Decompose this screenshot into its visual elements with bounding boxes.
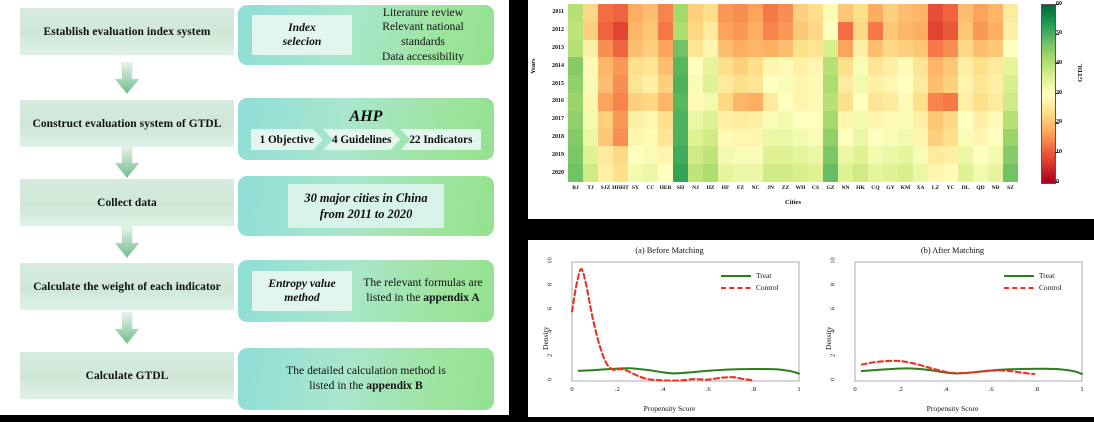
heatmap-cell	[658, 111, 673, 129]
heatmap-cell	[928, 146, 943, 164]
heatmap-cell	[568, 22, 583, 40]
heatmap-cell	[898, 4, 913, 22]
heatmap-cell	[883, 164, 898, 182]
heatmap-cell	[703, 164, 718, 182]
heatmap-cell	[838, 40, 853, 58]
heatmap-cell	[583, 146, 598, 164]
heatmap-cell	[883, 57, 898, 75]
density-legend-label: Treat	[756, 271, 771, 280]
heatmap-cell	[733, 57, 748, 75]
heatmap-cell	[733, 164, 748, 182]
heatmap-cell	[928, 111, 943, 129]
heatmap-cell	[853, 22, 868, 40]
heatmap-cell	[883, 146, 898, 164]
heatmap-cell	[778, 75, 793, 93]
heatmap-cell	[748, 22, 763, 40]
heatmap-year-tick: 2016	[536, 98, 564, 104]
detail-text: The detailed calculation method islisted…	[238, 364, 494, 393]
heatmap-cell	[838, 146, 853, 164]
heatmap-cell	[883, 129, 898, 147]
heatmap-cell	[688, 111, 703, 129]
down-arrow-icon	[114, 312, 140, 345]
heatmap-cell	[883, 93, 898, 111]
heatmap-cell	[808, 164, 823, 182]
heatmap-cell	[1003, 129, 1018, 147]
heatmap-cell	[913, 22, 928, 40]
heatmap-cell	[823, 22, 838, 40]
heatmap-cell	[973, 22, 988, 40]
heatmap-cell	[808, 75, 823, 93]
heatmap-cell	[1003, 40, 1018, 58]
heatmap-cell	[973, 4, 988, 22]
heatmap-cell	[718, 93, 733, 111]
heatmap-cell	[673, 164, 688, 182]
heatmap-cell	[823, 129, 838, 147]
heatmap-cell	[673, 57, 688, 75]
heatmap-cell	[958, 164, 973, 182]
colorbar-label: GTDL	[1077, 64, 1084, 82]
heatmap-cell	[943, 40, 958, 58]
heatmap-cell	[613, 93, 628, 111]
heatmap-cell	[763, 40, 778, 58]
heatmap-cell	[673, 75, 688, 93]
colorbar-tick-label: 60	[1056, 1, 1062, 7]
heatmap-cell	[673, 129, 688, 147]
heatmap-cell	[688, 75, 703, 93]
heatmap-cell	[718, 164, 733, 182]
heatmap-cell	[988, 146, 1003, 164]
heatmap-cell	[928, 93, 943, 111]
heatmap-cell	[763, 111, 778, 129]
heatmap-cell	[733, 40, 748, 58]
flow-detail-box: 30 major cities in Chinafrom 2011 to 202…	[238, 176, 494, 236]
detail-text: Literature reviewRelevant national stand…	[352, 6, 494, 64]
heatmap-cell	[613, 111, 628, 129]
flowchart-panel: Establish evaluation index systemConstru…	[0, 0, 509, 415]
heatmap-cell	[958, 40, 973, 58]
heatmap-cell	[733, 129, 748, 147]
heatmap-cell	[838, 164, 853, 182]
heatmap-cell	[658, 164, 673, 182]
heatmap-cell	[1003, 4, 1018, 22]
heatmap-cell	[763, 129, 778, 147]
heatmap-cell	[703, 146, 718, 164]
heatmap-cell	[898, 164, 913, 182]
heatmap-cell	[883, 22, 898, 40]
heatmap-cell	[793, 75, 808, 93]
heatmap-cell	[733, 93, 748, 111]
heatmap-cell	[1003, 146, 1018, 164]
heatmap-cell	[838, 75, 853, 93]
density-plot-after-matching: (b) After MatchingDensityPropensity Scor…	[811, 240, 1094, 417]
heatmap-year-tick: 2011	[536, 9, 564, 15]
heatmap-cell	[928, 75, 943, 93]
heatmap-cell	[718, 111, 733, 129]
heatmap-cell	[763, 57, 778, 75]
heatmap-cell	[748, 146, 763, 164]
heatmap-cell	[583, 4, 598, 22]
heatmap-cell	[928, 129, 943, 147]
heatmap-cell	[658, 4, 673, 22]
heatmap-cell	[778, 22, 793, 40]
heatmap-cell	[898, 40, 913, 58]
ahp-chevron-row: 1 Objective4 Guidelines22 Indicators	[238, 129, 494, 150]
heatmap-cell	[688, 4, 703, 22]
heatmap-cell	[1003, 75, 1018, 93]
colorbar-tick-label: 20	[1056, 119, 1062, 125]
heatmap-cell	[1003, 93, 1018, 111]
heatmap-cell	[868, 57, 883, 75]
heatmap-cell	[838, 57, 853, 75]
heatmap-year-tick: 2017	[536, 116, 564, 122]
heatmap-cell	[988, 57, 1003, 75]
heatmap-cell	[688, 93, 703, 111]
heatmap-cell	[838, 22, 853, 40]
heatmap-cell	[808, 129, 823, 147]
heatmap-cell	[868, 40, 883, 58]
heatmap-cell	[658, 75, 673, 93]
heatmap-year-tick: 2018	[536, 134, 564, 140]
ahp-chevron: 22 Indicators	[400, 129, 481, 150]
heatmap-cell	[718, 4, 733, 22]
heatmap-cell	[733, 22, 748, 40]
heatmap-cell	[748, 4, 763, 22]
heatmap-year-tick: 2019	[536, 152, 564, 158]
heatmap-cell	[568, 111, 583, 129]
heatmap-cell	[988, 40, 1003, 58]
heatmap-cell	[973, 57, 988, 75]
heatmap-cell	[643, 129, 658, 147]
heatmap-cell	[703, 93, 718, 111]
ahp-title: AHP	[238, 108, 494, 126]
flow-detail-box: The detailed calculation method islisted…	[238, 348, 494, 410]
heatmap-cell	[973, 146, 988, 164]
heatmap-cell	[853, 75, 868, 93]
heatmap-cell	[823, 146, 838, 164]
heatmap-cell	[688, 129, 703, 147]
heatmap-year-tick: 2013	[536, 45, 564, 51]
heatmap-cell	[628, 22, 643, 40]
heatmap-cell	[628, 111, 643, 129]
heatmap-cell	[988, 93, 1003, 111]
heatmap-cell	[853, 40, 868, 58]
heatmap-cell	[763, 4, 778, 22]
heatmap-cell	[733, 75, 748, 93]
heatmap-cell	[598, 57, 613, 75]
heatmap-cell	[583, 40, 598, 58]
heatmap-cell	[943, 75, 958, 93]
heatmap-cell	[568, 40, 583, 58]
heatmap-cell	[598, 75, 613, 93]
heatmap-cell	[763, 93, 778, 111]
detail-text: The relevant formulas arelisted in the a…	[352, 276, 494, 305]
heatmap-cell	[688, 164, 703, 182]
heatmap-cell	[958, 129, 973, 147]
flow-step-box: Calculate GTDL	[20, 352, 234, 399]
heatmap-cell	[808, 111, 823, 129]
heatmap-cell	[598, 93, 613, 111]
heatmap-cell	[793, 4, 808, 22]
heatmap-cell	[913, 57, 928, 75]
heatmap-cell	[943, 4, 958, 22]
heatmap-grid	[568, 4, 1018, 182]
heatmap-cell	[1003, 111, 1018, 129]
colorbar-tick-label: 10	[1056, 149, 1062, 155]
heatmap-cell	[928, 40, 943, 58]
heatmap-cell	[793, 57, 808, 75]
heatmap-cell	[973, 164, 988, 182]
heatmap-cell	[1003, 57, 1018, 75]
heatmap-cell	[808, 4, 823, 22]
heatmap-cell	[928, 164, 943, 182]
cities-scope-pill: 30 major cities in Chinafrom 2011 to 202…	[288, 184, 443, 228]
heatmap-cell	[868, 146, 883, 164]
heatmap-cell	[898, 129, 913, 147]
heatmap-cell	[628, 93, 643, 111]
heatmap-cell	[643, 75, 658, 93]
heatmap-cell	[913, 146, 928, 164]
heatmap-cell	[613, 164, 628, 182]
heatmap-cell	[778, 111, 793, 129]
heatmap-cell	[778, 129, 793, 147]
heatmap-cell	[598, 111, 613, 129]
heatmap-cell	[643, 4, 658, 22]
heatmap-cell	[568, 4, 583, 22]
heatmap-cell	[658, 57, 673, 75]
heatmap-cell	[988, 164, 1003, 182]
density-plot-before-matching: (a) Before MatchingDensityPropensity Sco…	[528, 240, 811, 417]
heatmap-cell	[703, 22, 718, 40]
heatmap-cell	[913, 111, 928, 129]
heatmap-cell	[568, 75, 583, 93]
heatmap-cell	[643, 22, 658, 40]
heatmap-cell	[703, 4, 718, 22]
heatmap-cell	[793, 129, 808, 147]
heatmap-cell	[928, 57, 943, 75]
heatmap-cell	[763, 146, 778, 164]
heatmap-cell	[973, 111, 988, 129]
heatmap-year-tick: 2015	[536, 81, 564, 87]
detail-method-pill: Indexselecion	[252, 15, 352, 54]
heatmap-cell	[583, 75, 598, 93]
heatmap-cell	[628, 40, 643, 58]
heatmap-cell	[673, 111, 688, 129]
heatmap-cell	[748, 93, 763, 111]
heatmap-cell	[868, 22, 883, 40]
heatmap-cell	[883, 111, 898, 129]
heatmap-cell	[568, 93, 583, 111]
heatmap-cell	[913, 164, 928, 182]
heatmap-cell	[793, 40, 808, 58]
heatmap-cell	[898, 57, 913, 75]
heatmap-cell	[583, 129, 598, 147]
ahp-chevron: 4 Guidelines	[323, 129, 400, 150]
heatmap-cell	[778, 93, 793, 111]
heatmap-cell	[943, 93, 958, 111]
heatmap-cell	[928, 22, 943, 40]
heatmap-cell	[628, 146, 643, 164]
heatmap-cell	[988, 22, 1003, 40]
heatmap-cell	[853, 146, 868, 164]
heatmap-cell	[943, 57, 958, 75]
heatmap-cell	[613, 40, 628, 58]
heatmap-cell	[658, 22, 673, 40]
flow-step-box: Establish evaluation index system	[20, 8, 234, 55]
heatmap-cell	[883, 40, 898, 58]
heatmap-cell	[598, 22, 613, 40]
heatmap-cell	[763, 164, 778, 182]
heatmap-cell	[613, 22, 628, 40]
down-arrow-icon	[114, 62, 140, 95]
heatmap-cell	[958, 22, 973, 40]
density-legend-label: Control	[756, 283, 779, 292]
heatmap-cell	[703, 57, 718, 75]
flow-detail-box: IndexselecionLiterature reviewRelevant n…	[238, 5, 494, 65]
heatmap-cell	[808, 40, 823, 58]
heatmap-cell	[778, 146, 793, 164]
heatmap-cell	[568, 164, 583, 182]
heatmap-cell	[853, 4, 868, 22]
heatmap-cell	[598, 4, 613, 22]
heatmap-cell	[643, 146, 658, 164]
heatmap-cell	[823, 40, 838, 58]
heatmap-cell	[868, 75, 883, 93]
heatmap-cell	[703, 129, 718, 147]
heatmap-cell	[868, 4, 883, 22]
heatmap-cell	[808, 22, 823, 40]
flow-step-box: Collect data	[20, 179, 234, 226]
flowchart-details-column: IndexselecionLiterature reviewRelevant n…	[238, 0, 494, 415]
heatmap-cell	[583, 164, 598, 182]
heatmap-cell	[943, 111, 958, 129]
heatmap-cell	[628, 75, 643, 93]
heatmap-cell	[763, 22, 778, 40]
detail-method-pill: Entropy valuemethod	[252, 271, 352, 310]
heatmap-cell	[673, 22, 688, 40]
heatmap-cell	[688, 22, 703, 40]
heatmap-cell	[943, 146, 958, 164]
heatmap-cell	[778, 40, 793, 58]
heatmap-cell	[958, 75, 973, 93]
heatmap-cell	[583, 93, 598, 111]
colorbar-tick-label: 30	[1056, 90, 1062, 96]
heatmap-cell	[658, 129, 673, 147]
heatmap-cell	[943, 164, 958, 182]
heatmap-cell	[853, 57, 868, 75]
heatmap-city-tick: SZ	[998, 185, 1023, 191]
heatmap-cell	[643, 57, 658, 75]
heatmap-cell	[598, 164, 613, 182]
heatmap-inner: Years 2011201220132014201520162017201820…	[528, 0, 1094, 219]
density-legend-label: Control	[1039, 283, 1062, 292]
heatmap-cell	[853, 164, 868, 182]
heatmap-colorbar	[1041, 4, 1056, 184]
heatmap-cell	[583, 111, 598, 129]
colorbar-tick-label: 40	[1056, 60, 1062, 66]
heatmap-cell	[958, 146, 973, 164]
heatmap-cell	[838, 93, 853, 111]
heatmap-cell	[748, 164, 763, 182]
heatmap-cell	[688, 40, 703, 58]
heatmap-cell	[823, 111, 838, 129]
heatmap-panel: Years 2011201220132014201520162017201820…	[528, 0, 1094, 219]
heatmap-cell	[913, 75, 928, 93]
heatmap-cell	[973, 93, 988, 111]
flow-detail-box: AHP1 Objective4 Guidelines22 Indicators	[238, 98, 494, 160]
heatmap-cell	[913, 4, 928, 22]
heatmap-cell	[628, 164, 643, 182]
heatmap-cell	[838, 4, 853, 22]
heatmap-cell	[718, 22, 733, 40]
heatmap-cell	[913, 93, 928, 111]
flowchart-steps-column: Establish evaluation index systemConstru…	[20, 0, 234, 415]
heatmap-cell	[598, 40, 613, 58]
heatmap-year-tick: 2020	[536, 170, 564, 176]
heatmap-cell	[823, 164, 838, 182]
heatmap-cell	[733, 146, 748, 164]
heatmap-cell	[673, 146, 688, 164]
heatmap-cell	[853, 129, 868, 147]
heatmap-cell	[643, 40, 658, 58]
heatmap-cell	[778, 57, 793, 75]
heatmap-cell	[973, 40, 988, 58]
heatmap-cell	[838, 129, 853, 147]
heatmap-cell	[673, 4, 688, 22]
heatmap-cell	[613, 4, 628, 22]
heatmap-cell	[1003, 22, 1018, 40]
heatmap-cell	[673, 93, 688, 111]
colorbar-tick-label: 50	[1056, 30, 1062, 36]
heatmap-cell	[898, 75, 913, 93]
heatmap-cell	[823, 75, 838, 93]
heatmap-cell	[793, 146, 808, 164]
heatmap-cell	[568, 146, 583, 164]
heatmap-cell	[1003, 164, 1018, 182]
flow-detail-box: Entropy valuemethodThe relevant formulas…	[238, 260, 494, 322]
heatmap-cell	[958, 111, 973, 129]
heatmap-cell	[598, 129, 613, 147]
heatmap-cell	[613, 57, 628, 75]
heatmap-cell	[808, 93, 823, 111]
heatmap-year-tick: 2014	[536, 63, 564, 69]
heatmap-cell	[988, 75, 1003, 93]
heatmap-cell	[793, 111, 808, 129]
heatmap-cell	[748, 129, 763, 147]
heatmap-cell	[808, 57, 823, 75]
heatmap-cell	[673, 40, 688, 58]
heatmap-cell	[898, 22, 913, 40]
heatmap-cell	[628, 129, 643, 147]
heatmap-cell	[643, 164, 658, 182]
density-legend-label: Treat	[1039, 271, 1054, 280]
heatmap-cell	[823, 93, 838, 111]
heatmap-cell	[793, 93, 808, 111]
ahp-chevron: 1 Objective	[251, 129, 323, 150]
heatmap-cell	[613, 146, 628, 164]
heatmap-cell	[748, 75, 763, 93]
heatmap-cell	[853, 93, 868, 111]
figure-root: Establish evaluation index systemConstru…	[0, 0, 1094, 422]
heatmap-cell	[838, 111, 853, 129]
heatmap-cell	[748, 111, 763, 129]
heatmap-cell	[913, 129, 928, 147]
heatmap-year-tick: 2012	[536, 27, 564, 33]
heatmap-cell	[973, 75, 988, 93]
heatmap-cell	[823, 4, 838, 22]
heatmap-cell	[928, 4, 943, 22]
heatmap-cell	[898, 111, 913, 129]
heatmap-cell	[748, 40, 763, 58]
